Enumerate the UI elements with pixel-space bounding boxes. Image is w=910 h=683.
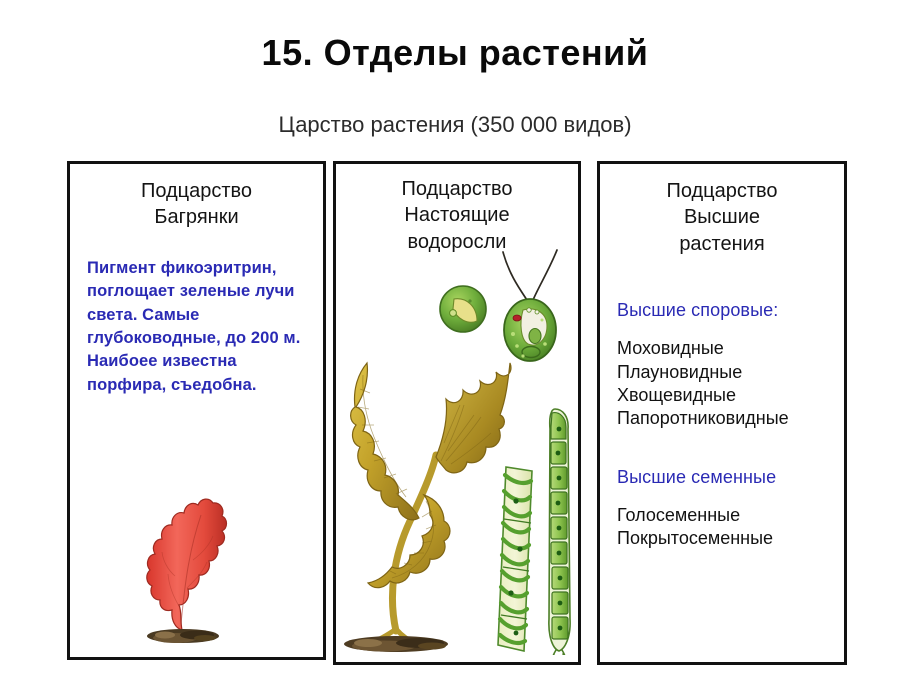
column-higher-plants: Подцарство Высшие растения Высшие споров…	[597, 161, 847, 665]
group-heading-spore-plants: Высшие споровые:	[617, 300, 844, 321]
kingdom-subtitle: Царство растения (350 000 видов)	[0, 112, 910, 138]
group-list-spore-plants: Моховидные Плауновидные Хвощевидные Папо…	[617, 337, 844, 431]
column-rhodophyta: Подцарство Багрянки Пигмент фикоэритрин,…	[67, 161, 326, 660]
column-higher-plants-heading: Подцарство Высшие растения	[610, 178, 834, 257]
group-heading-seed-plants: Высшие семенные	[617, 467, 844, 488]
column-rhodophyta-description: Пигмент фикоэритрин, поглощает зеленые л…	[87, 257, 323, 398]
column-true-algae-heading: Подцарство Настоящие водоросли	[346, 176, 568, 255]
group-list-seed-plants: Голосеменные Покрытосеменные	[617, 504, 844, 551]
column-rhodophyta-heading: Подцарство Багрянки	[80, 178, 313, 231]
page-title: 15. Отделы растений	[0, 32, 910, 74]
column-true-algae: Подцарство Настоящие водоросли	[333, 161, 581, 665]
